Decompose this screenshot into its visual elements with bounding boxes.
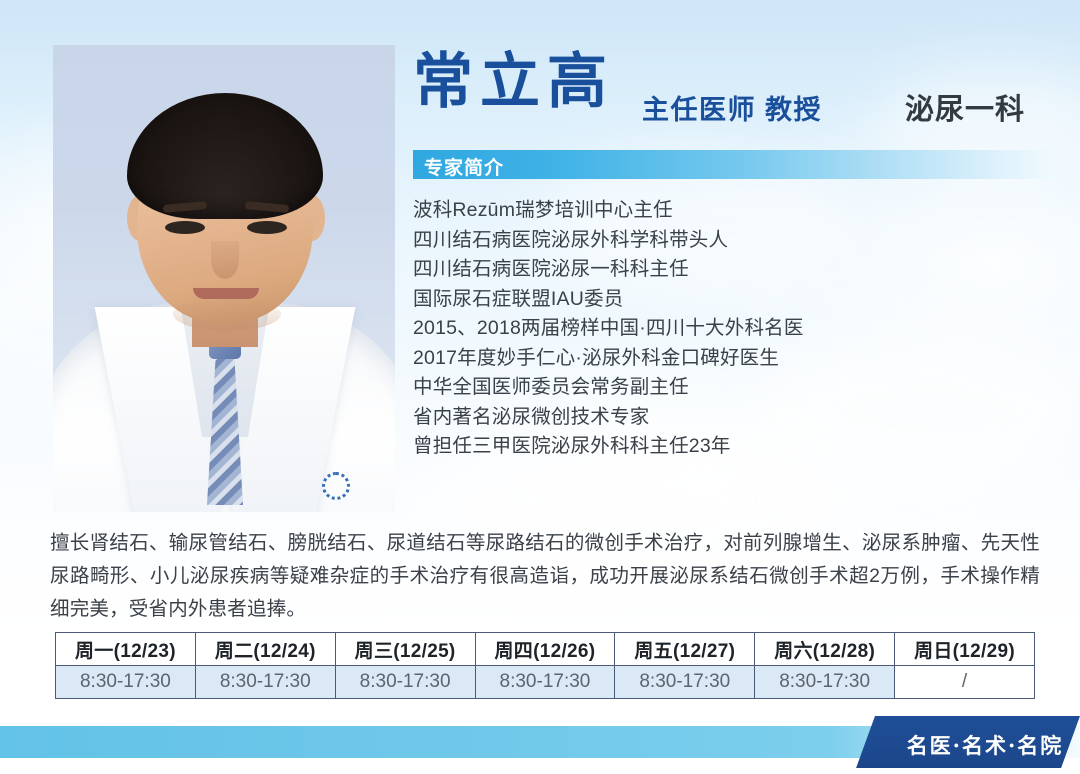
- bio-line: 波科Rezūm瑞梦培训中心主任: [413, 196, 1053, 226]
- bio-line: 四川结石病医院泌尿一科科主任: [413, 255, 1053, 285]
- hair: [127, 93, 323, 219]
- schedule-header-cell: 周一(12/23): [56, 633, 196, 666]
- eye-right: [247, 221, 287, 234]
- schedule-header-cell: 周日(12/29): [895, 633, 1035, 666]
- doctor-photo: [53, 45, 395, 512]
- footer-slogan-text: 名医·名术·名院: [905, 730, 1065, 760]
- schedule-cell: 8:30-17:30: [475, 666, 615, 699]
- clinic-schedule-table: 周一(12/23) 周二(12/24) 周三(12/25) 周四(12/26) …: [55, 632, 1035, 699]
- nose: [211, 241, 239, 279]
- bio-line: 曾担任三甲医院泌尿外科科主任23年: [413, 432, 1053, 462]
- bio-list: 波科Rezūm瑞梦培训中心主任 四川结石病医院泌尿外科学科带头人 四川结石病医院…: [413, 196, 1053, 462]
- eye-left: [165, 221, 205, 234]
- schedule-cell: 8:30-17:30: [615, 666, 755, 699]
- portrait-illustration: [53, 45, 395, 512]
- bio-line: 国际尿石症联盟IAU委员: [413, 285, 1053, 315]
- schedule-header-cell: 周四(12/26): [475, 633, 615, 666]
- schedule-cell: 8:30-17:30: [335, 666, 475, 699]
- schedule-cell: 8:30-17:30: [195, 666, 335, 699]
- schedule-cell: 8:30-17:30: [755, 666, 895, 699]
- doctor-name: 常立高: [413, 52, 614, 112]
- schedule-header-cell: 周五(12/27): [615, 633, 755, 666]
- schedule-header-cell: 周三(12/25): [335, 633, 475, 666]
- schedule-header-cell: 周六(12/28): [755, 633, 895, 666]
- bio-section-bar: 专家简介: [413, 150, 1053, 179]
- schedule-cell: 8:30-17:30: [56, 666, 196, 699]
- mouth: [193, 288, 259, 299]
- table-row: 8:30-17:30 8:30-17:30 8:30-17:30 8:30-17…: [56, 666, 1035, 699]
- specialty-paragraph: 擅长肾结石、输尿管结石、膀胱结石、尿道结石等尿路结石的微创手术治疗，对前列腺增生…: [50, 527, 1040, 626]
- hospital-circle-logo-icon: [322, 472, 350, 500]
- bio-line: 省内著名泌尿微创技术专家: [413, 403, 1053, 433]
- bio-line: 四川结石病医院泌尿外科学科带头人: [413, 226, 1053, 256]
- doctor-title: 主任医师 教授: [642, 88, 822, 127]
- doctor-department: 泌尿一科: [905, 86, 1025, 128]
- table-header-row: 周一(12/23) 周二(12/24) 周三(12/25) 周四(12/26) …: [56, 633, 1035, 666]
- bio-line: 2017年度妙手仁心·泌尿外科金口碑好医生: [413, 344, 1053, 374]
- chin-shadow: [173, 297, 281, 331]
- schedule-header-cell: 周二(12/24): [195, 633, 335, 666]
- bio-section-title: 专家简介: [424, 153, 504, 180]
- poster-page: 常立高 主任医师 教授 泌尿一科 专家简介 波科Rezūm瑞梦培训中心主任 四川…: [0, 0, 1080, 774]
- bio-line: 2015、2018两届榜样中国·四川十大外科名医: [413, 314, 1053, 344]
- bio-line: 中华全国医师委员会常务副主任: [413, 373, 1053, 403]
- schedule-cell-rest-day: /: [895, 666, 1035, 699]
